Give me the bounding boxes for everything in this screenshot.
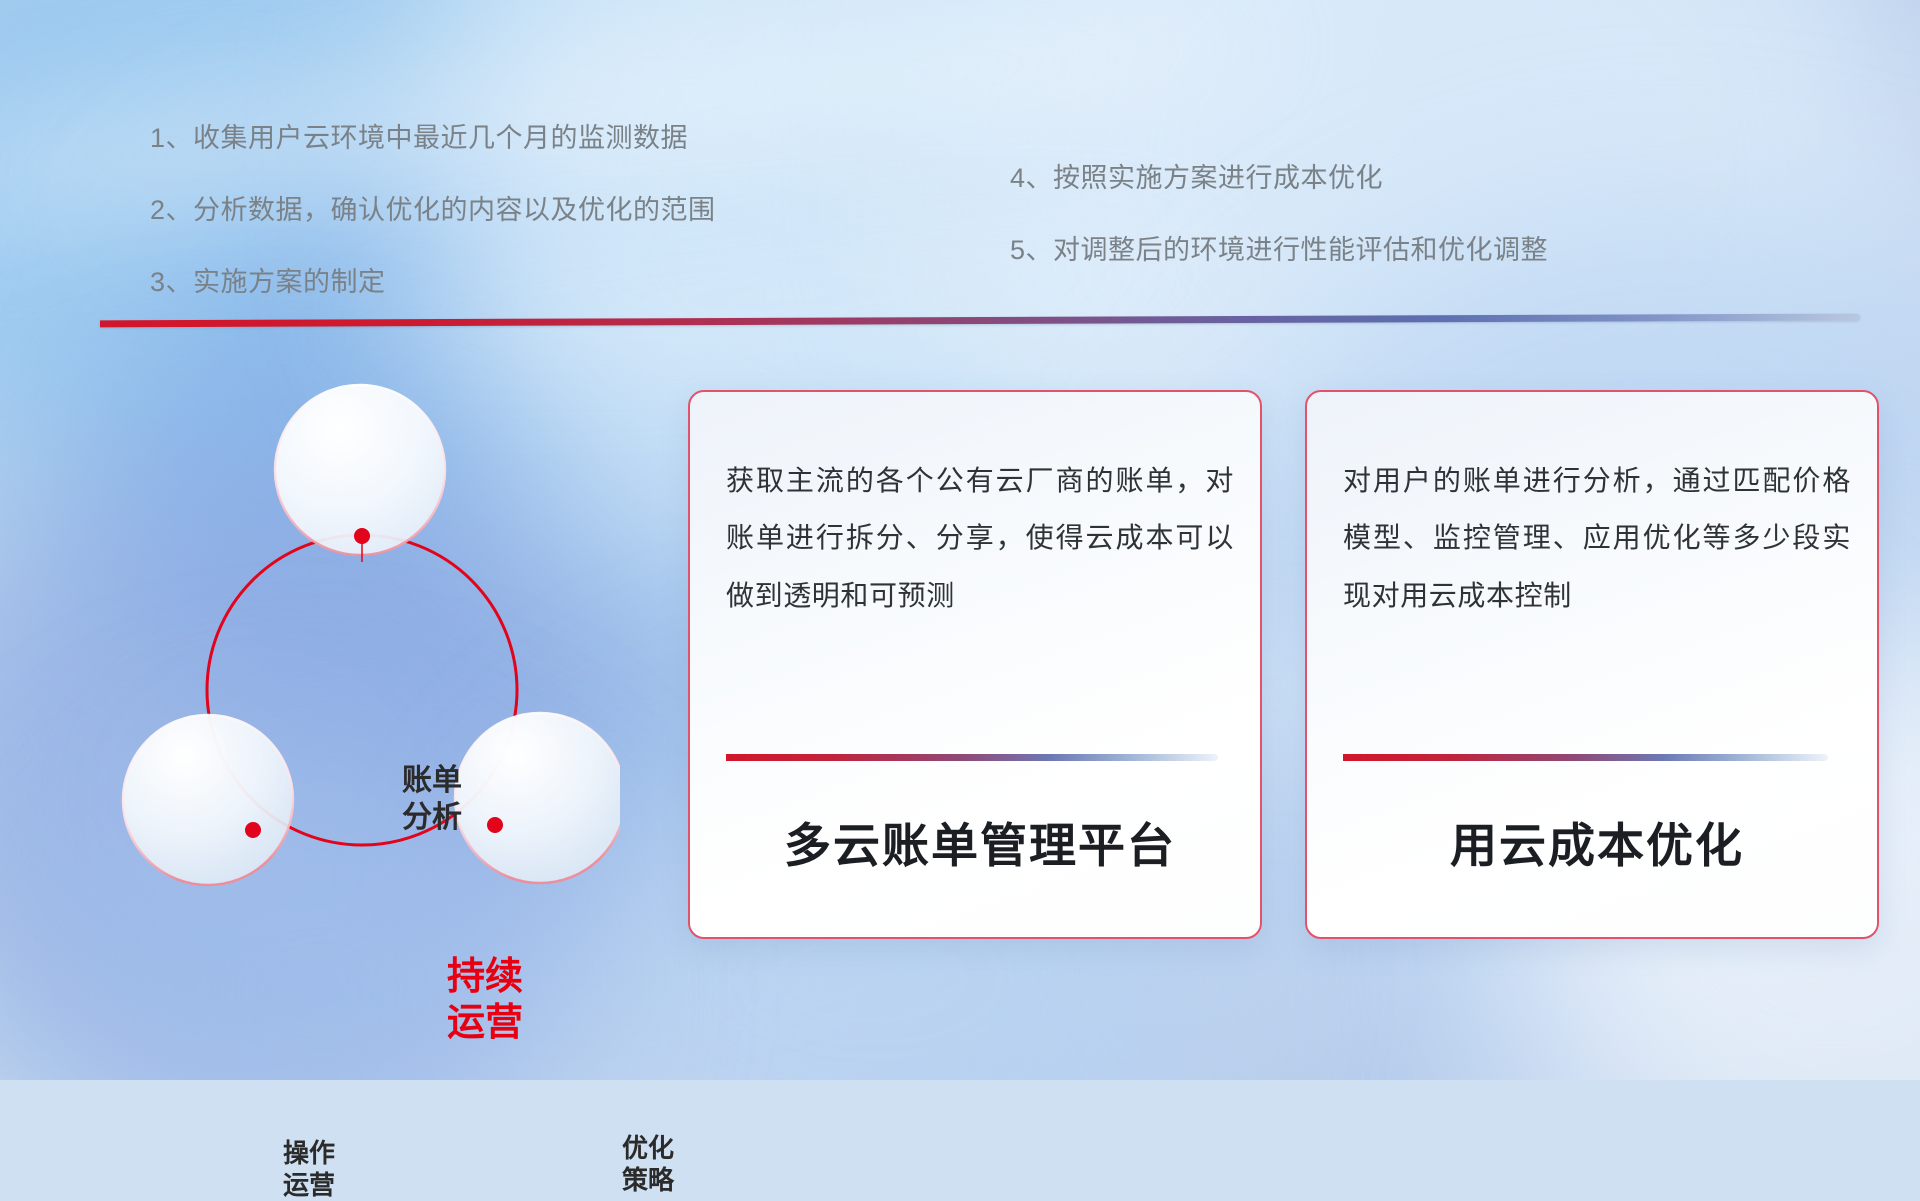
step-number: 2、 (150, 197, 193, 224)
venn-label-right-line2: 策略 (578, 1165, 718, 1197)
venn-label-right: 优化 策略 (578, 1133, 718, 1196)
step-item: 3、实施方案的制定 (150, 269, 716, 296)
venn-label-top: 账单 分析 (357, 763, 507, 836)
venn-label-right-line1: 优化 (578, 1133, 718, 1165)
info-card-multicloud-billing[interactable]: 获取主流的各个公有云厂商的账单，对账单进行拆分、分享，使得云成本可以做到透明和可… (688, 390, 1262, 939)
venn-label-center-line1: 持续 (400, 955, 570, 1001)
step-text: 分析数据，确认优化的内容以及优化的范围 (193, 195, 716, 225)
step-number: 4、 (1010, 165, 1053, 192)
venn-node-top (354, 528, 370, 544)
step-number: 1、 (150, 125, 193, 152)
step-item: 2、分析数据，确认优化的内容以及优化的范围 (150, 197, 716, 224)
card-body-text: 获取主流的各个公有云厂商的账单，对账单进行拆分、分享，使得云成本可以做到透明和可… (726, 452, 1234, 624)
steps-right-column: 4、按照实施方案进行成本优化 5、对调整后的环境进行性能评估和优化调整 (1010, 165, 1548, 309)
step-number: 5、 (1010, 237, 1053, 264)
info-card-cost-optimization[interactable]: 对用户的账单进行分析，通过匹配价格模型、监控管理、应用优化等多少段实现对用云成本… (1305, 390, 1879, 939)
card-title: 多云账单管理平台 (726, 807, 1234, 876)
steps-left-column: 1、收集用户云环境中最近几个月的监测数据 2、分析数据，确认优化的内容以及优化的… (150, 125, 716, 341)
venn-label-top-line1: 账单 (357, 763, 507, 800)
venn-label-top-line2: 分析 (357, 800, 507, 837)
venn-diagram: 账单 分析 持续 运营 操作 运营 优化 策略 (100, 350, 620, 950)
venn-label-left: 操作 运营 (239, 1138, 379, 1201)
step-item: 4、按照实施方案进行成本优化 (1010, 165, 1548, 192)
card-accent-rule (726, 754, 1218, 761)
step-item: 5、对调整后的环境进行性能评估和优化调整 (1010, 237, 1548, 264)
venn-circle-left (123, 715, 293, 885)
venn-label-center-line2: 运营 (400, 1001, 570, 1047)
venn-label-left-line2: 运营 (239, 1170, 379, 1201)
step-text: 实施方案的制定 (193, 267, 386, 297)
step-item: 1、收集用户云环境中最近几个月的监测数据 (150, 125, 716, 152)
step-number: 3、 (150, 269, 193, 296)
venn-label-center: 持续 运营 (400, 955, 570, 1046)
venn-label-left-line1: 操作 (239, 1138, 379, 1170)
step-text: 对调整后的环境进行性能评估和优化调整 (1053, 235, 1548, 265)
step-text: 收集用户云环境中最近几个月的监测数据 (193, 123, 688, 153)
card-accent-rule (1343, 754, 1828, 761)
card-title: 用云成本优化 (1343, 807, 1851, 876)
venn-node-left (245, 822, 261, 838)
venn-svg (100, 350, 620, 950)
step-text: 按照实施方案进行成本优化 (1053, 163, 1383, 193)
card-body-text: 对用户的账单进行分析，通过匹配价格模型、监控管理、应用优化等多少段实现对用云成本… (1343, 452, 1851, 624)
